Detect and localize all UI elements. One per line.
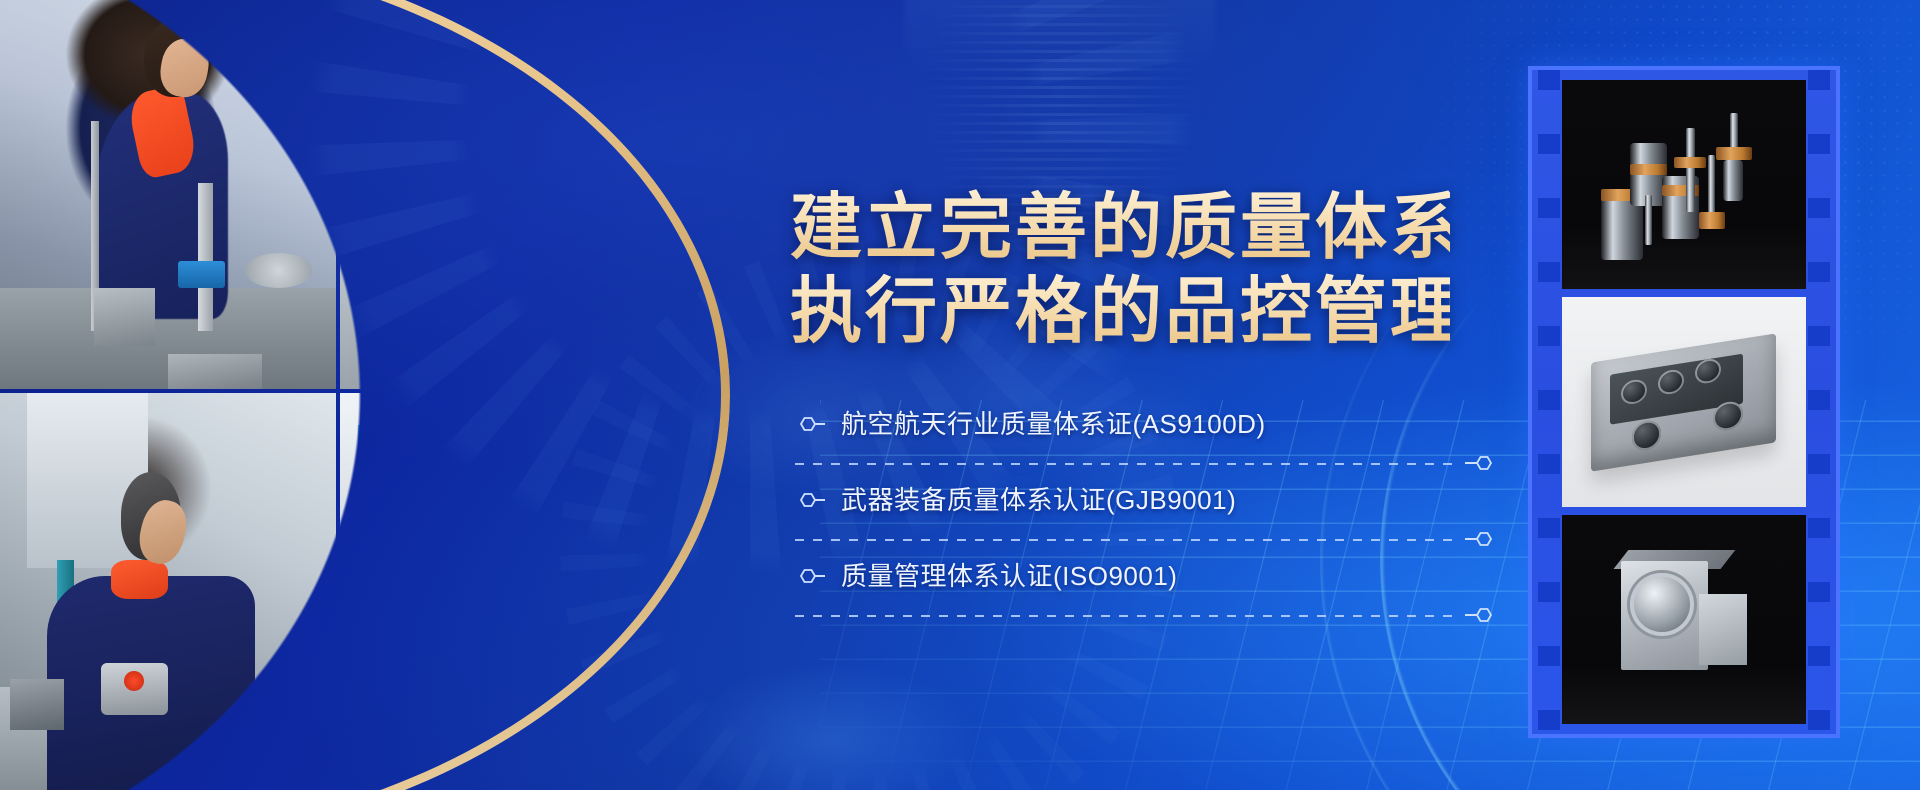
hexagon-node-icon <box>795 415 827 433</box>
photo-inspector-height-gauge <box>0 0 336 389</box>
filmstrip-perforations-left <box>1538 70 1560 734</box>
certification-divider <box>795 615 1455 617</box>
certification-list: 航空航天行业质量体系证(AS9100D) 武器装备质量体系认证(GJB9001) <box>795 395 1455 623</box>
hexagon-end-node-icon <box>1465 530 1497 548</box>
hexagon-end-node-icon <box>1465 454 1497 472</box>
certification-label: 质量管理体系认证(ISO9001) <box>841 561 1177 591</box>
filmstrip-perforations-right <box>1808 70 1830 734</box>
product-photo-aluminum-housing <box>1562 297 1806 506</box>
hexagon-end-node-icon <box>1465 606 1497 624</box>
certification-item-3: 质量管理体系认证(ISO9001) <box>795 547 1455 623</box>
certification-divider <box>795 463 1455 465</box>
quality-system-banner: 建立完善的质量体系 执行严格的品控管理 航空航天行业质量体系证(AS9100D) <box>0 0 1920 790</box>
headline-line-2: 执行严格的品控管理 <box>790 270 1450 354</box>
hexagon-node-icon <box>795 567 827 585</box>
photo-operator-bench-inspection <box>340 0 700 389</box>
certification-label: 航空航天行业质量体系证(AS9100D) <box>841 409 1266 439</box>
hexagon-node-icon <box>795 491 827 509</box>
product-photo-bearing-block <box>1562 515 1806 724</box>
headline-line-1: 建立完善的质量体系 <box>790 186 1450 270</box>
product-photo-precision-shafts-and-bushings <box>1562 80 1806 289</box>
certification-divider <box>795 539 1455 541</box>
product-filmstrip <box>1528 66 1840 738</box>
certification-item-2: 武器装备质量体系认证(GJB9001) <box>795 471 1455 547</box>
certification-label: 武器装备质量体系认证(GJB9001) <box>841 485 1236 515</box>
photo-machine-console-operator <box>340 393 700 790</box>
photo-collage <box>0 0 700 790</box>
photo-cmm-operator-joystick <box>0 393 336 790</box>
page-title: 建立完善的质量体系 执行严格的品控管理 <box>790 186 1450 354</box>
certification-item-1: 航空航天行业质量体系证(AS9100D) <box>795 395 1455 471</box>
